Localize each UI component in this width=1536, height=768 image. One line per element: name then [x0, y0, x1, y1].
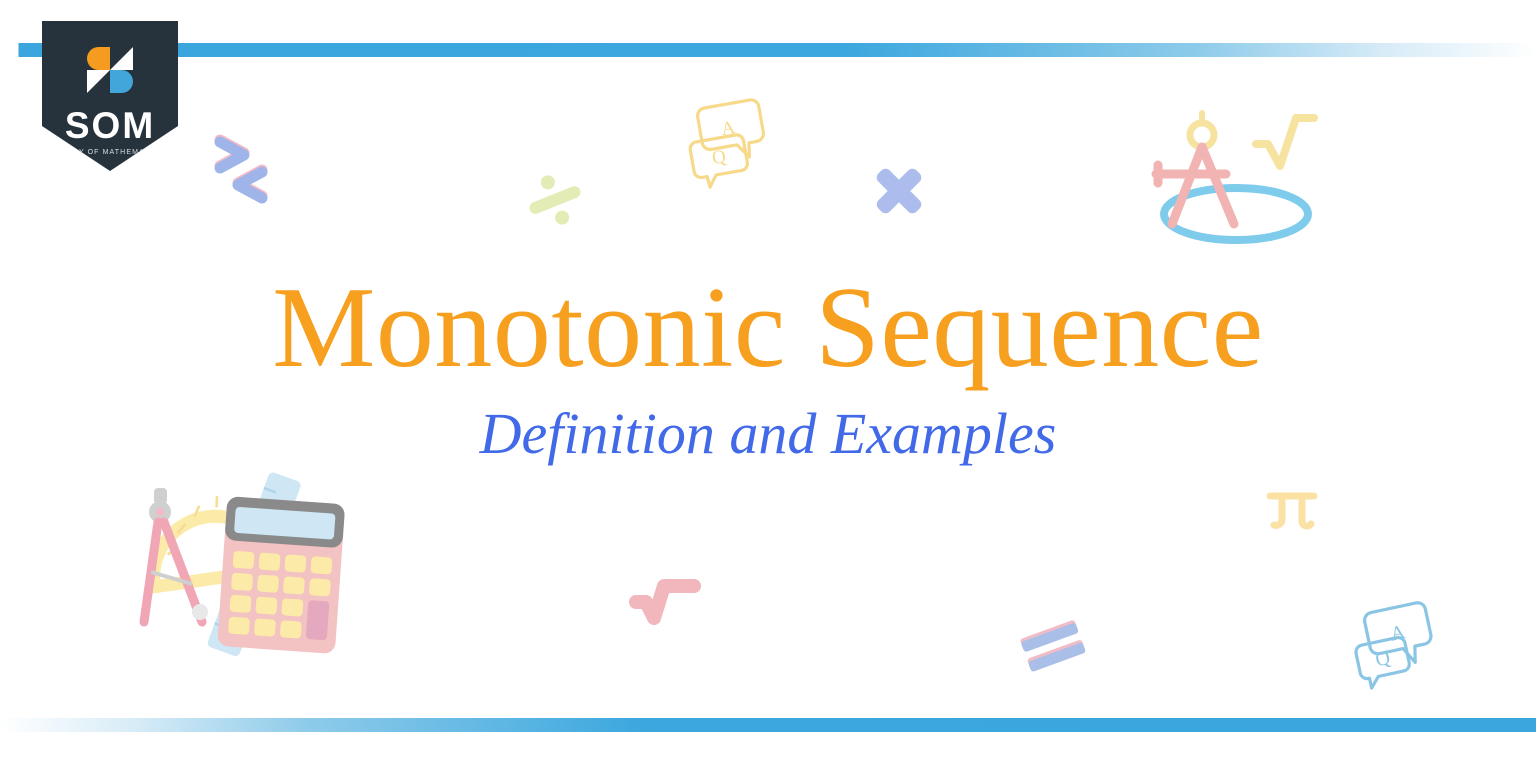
slide-canvas: SOM STORY OF MATHEMATICS A	[0, 0, 1536, 768]
calculator-shape	[217, 496, 345, 654]
logo-tagline: STORY OF MATHEMATICS	[55, 149, 164, 156]
top-accent-rule	[0, 43, 1536, 57]
svg-text:Q: Q	[1373, 647, 1392, 672]
title-block: Monotonic Sequence Definition and Exampl…	[0, 268, 1536, 466]
s-mark-orange-quarter	[87, 47, 110, 70]
multiplication-cross-icon	[868, 160, 930, 222]
svg-text:Q: Q	[710, 146, 727, 169]
pi-symbol-icon	[1264, 482, 1322, 538]
ruler-shape	[206, 471, 302, 657]
square-root-pink-icon	[628, 572, 704, 634]
s-mark-blue-quarter	[110, 70, 133, 93]
compass-ellipse-icon	[1148, 102, 1328, 252]
qa-speech-bubbles-yellow-icon: A Q	[684, 96, 776, 182]
s-mark-white-bottom-triangle	[87, 70, 110, 93]
math-tools-illustration	[130, 472, 360, 662]
s-mark-white-top-triangle	[110, 47, 133, 70]
bottom-accent-rule	[0, 718, 1536, 732]
som-s-mark-icon	[87, 43, 133, 101]
division-sign-icon	[520, 168, 590, 232]
protractor-shape	[143, 489, 277, 586]
greater-less-chevrons-icon	[214, 136, 294, 206]
qa-speech-bubbles-blue-icon: A Q	[1348, 600, 1444, 688]
svg-text:A: A	[720, 117, 737, 140]
page-title: Monotonic Sequence	[0, 268, 1536, 390]
som-logo-badge: SOM STORY OF MATHEMATICS	[42, 21, 178, 171]
svg-text:A: A	[1388, 621, 1407, 646]
compass-shape	[144, 488, 208, 622]
equals-sign-icon	[1018, 616, 1090, 676]
page-subtitle: Definition and Examples	[0, 402, 1536, 466]
square-root-yellow-icon	[1250, 110, 1320, 176]
logo-wordmark: SOM	[65, 107, 155, 144]
